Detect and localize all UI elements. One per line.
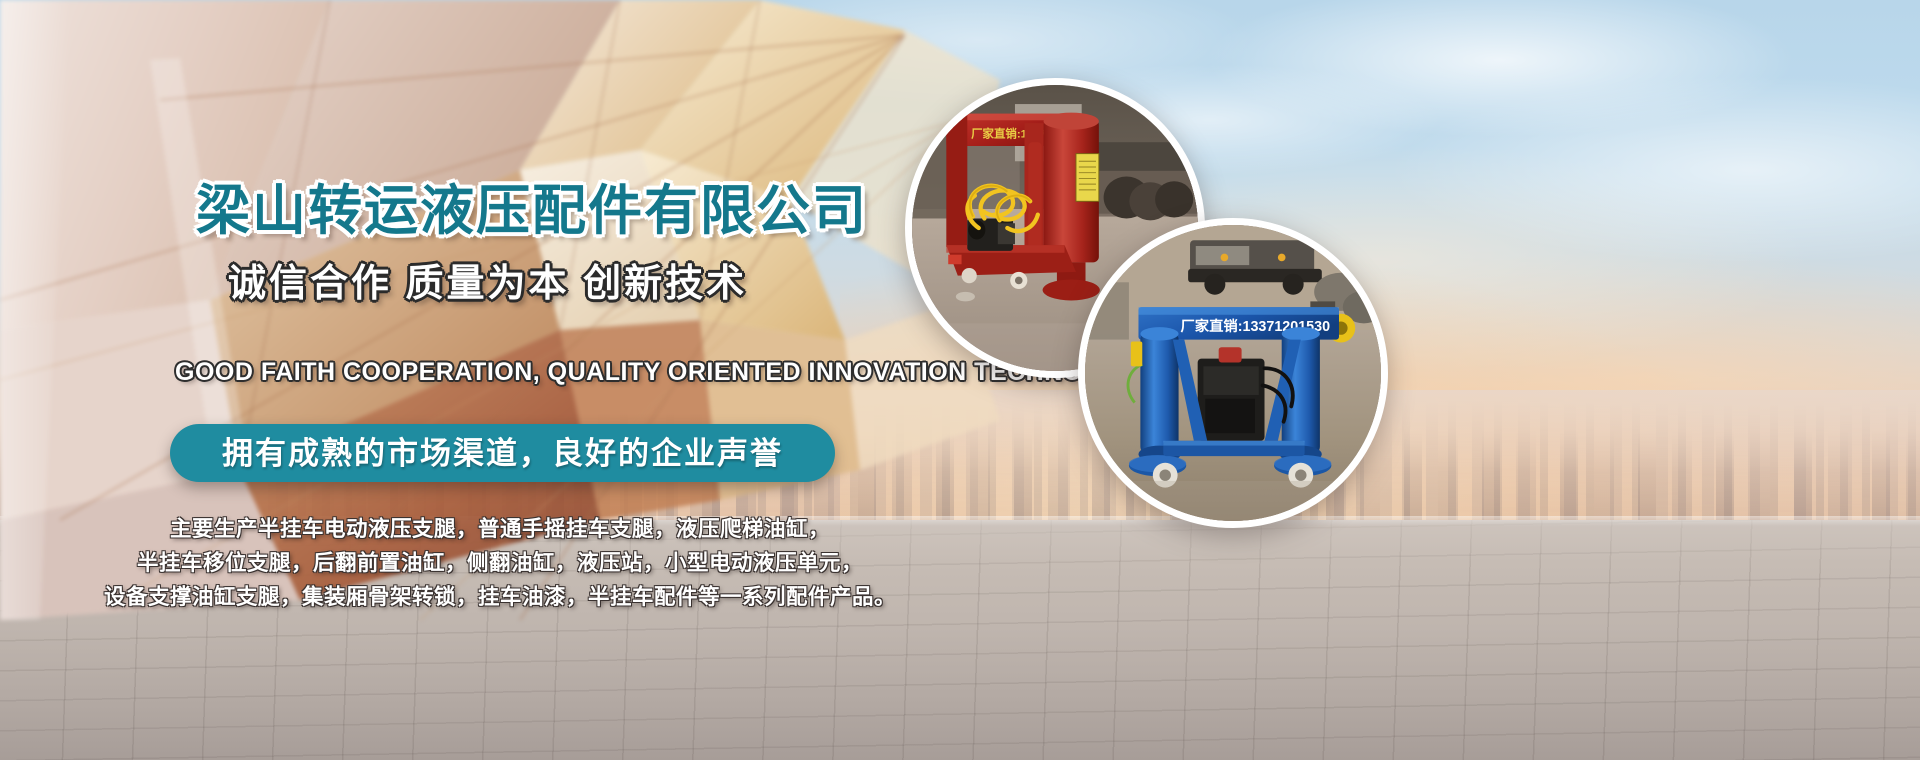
product-photo-blue-image: 厂家直销:13371201530 <box>1085 225 1381 521</box>
product-photo-blue[interactable]: 厂家直销:13371201530 <box>1078 218 1388 528</box>
description-line-2: 半挂车移位支腿，后翻前置油缸，侧翻油缸，液压站，小型电动液压单元， <box>60 546 940 580</box>
highlight-pill-label: 拥有成熟的市场渠道，良好的企业声誉 <box>222 438 783 469</box>
company-title: 梁山转运液压配件有限公司 <box>196 166 868 245</box>
product-description: 主要生产半挂车电动液压支腿，普通手摇挂车支腿，液压爬梯油缸， 半挂车移位支腿，后… <box>60 512 940 614</box>
slogan-chinese: 诚信合作 质量为本 创新技术 <box>228 252 747 307</box>
hero-text-block: 梁山转运液压配件有限公司 诚信合作 质量为本 创新技术 GOOD FAITH C… <box>0 0 1000 640</box>
highlight-pill: 拥有成熟的市场渠道，良好的企业声誉 <box>170 424 835 482</box>
description-line-3: 设备支撑油缸支腿，集装厢骨架转锁，挂车油漆，半挂车配件等一系列配件产品。 <box>60 580 940 614</box>
hero-banner: 梁山转运液压配件有限公司 诚信合作 质量为本 创新技术 GOOD FAITH C… <box>0 0 1920 760</box>
description-line-1: 主要生产半挂车电动液压支腿，普通手摇挂车支腿，液压爬梯油缸， <box>60 512 940 546</box>
